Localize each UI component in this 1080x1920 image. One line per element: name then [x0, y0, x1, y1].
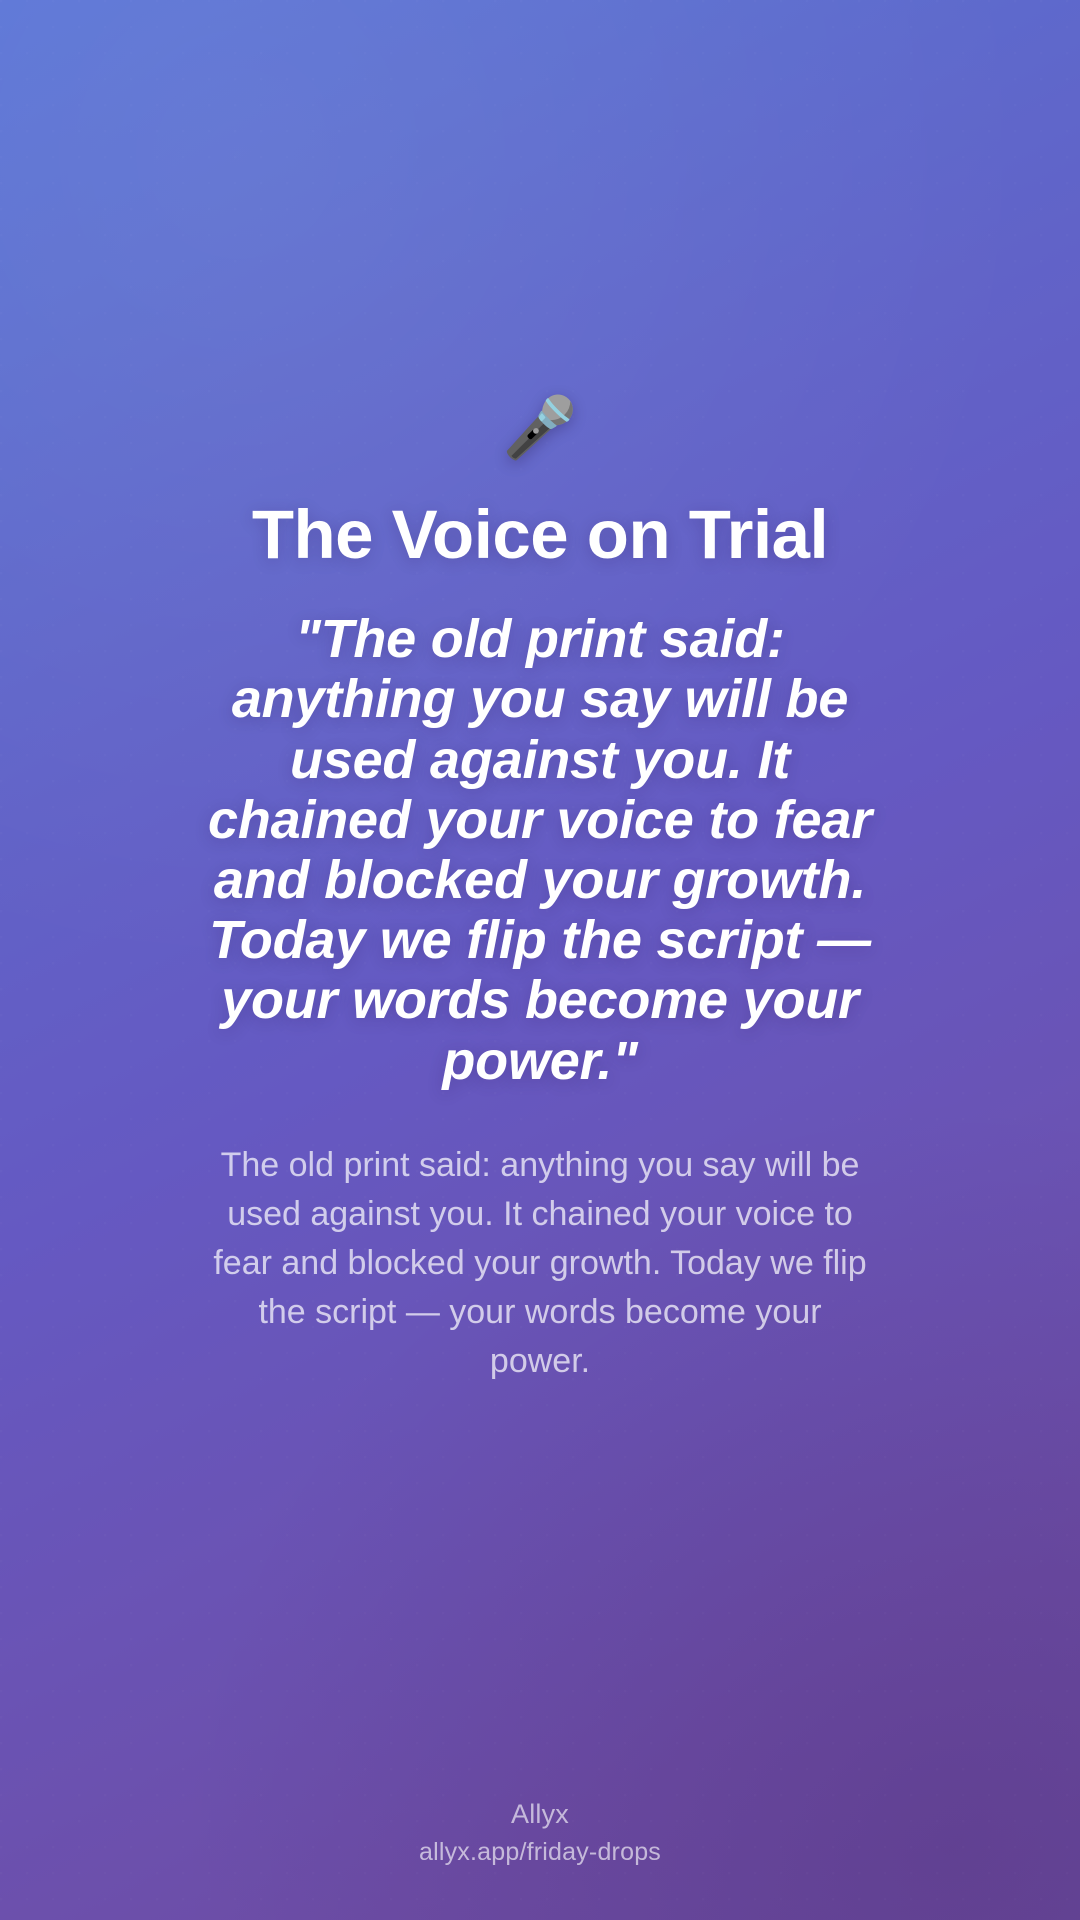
footer-brand-name: Allyx [511, 1798, 569, 1832]
page-title: The Voice on Trial [252, 498, 828, 571]
microphone-emoji: 🎤 [503, 398, 578, 462]
body-paragraph: The old print said: anything you say wil… [210, 1141, 870, 1386]
card-content: 🎤 The Voice on Trial "The old print said… [0, 0, 1080, 1386]
card-footer: Allyx allyx.app/friday-drops [0, 1798, 1080, 1868]
pull-quote: "The old print said: anything you say wi… [190, 609, 890, 1091]
footer-url[interactable]: allyx.app/friday-drops [419, 1837, 661, 1868]
social-card: 🎤 The Voice on Trial "The old print said… [0, 0, 1080, 1920]
